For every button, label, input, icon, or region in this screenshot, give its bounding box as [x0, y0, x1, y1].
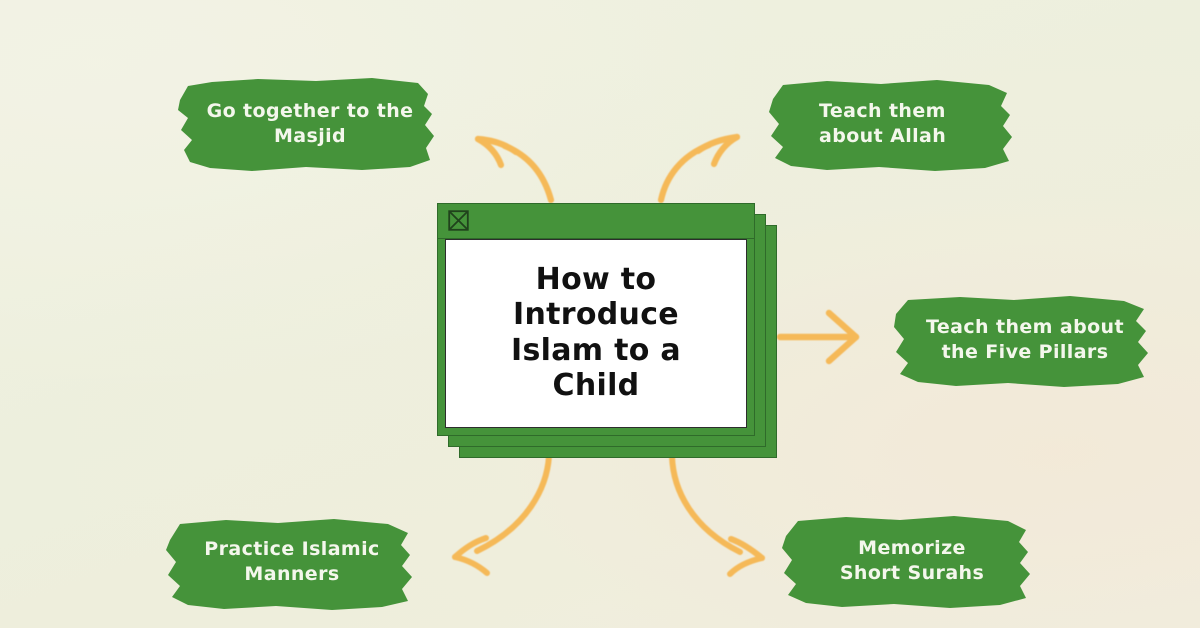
- card-title: How to Introduce Islam to a Child: [501, 262, 691, 402]
- label-go-to-masjid[interactable]: Go together to the Masjid: [166, 70, 446, 178]
- label-text: Teach them about the Five Pillars: [884, 315, 1162, 366]
- infographic-canvas: Go together to the Masjid Teach them abo…: [0, 0, 1200, 628]
- arrow-to-surahs: [672, 456, 762, 574]
- arrow-to-masjid: [478, 139, 551, 200]
- close-box-icon[interactable]: [448, 210, 469, 231]
- center-card-stack[interactable]: How to Introduce Islam to a Child: [437, 203, 755, 436]
- label-practice-islamic-manners[interactable]: Practice Islamic Manners: [156, 512, 426, 612]
- label-text: Practice Islamic Manners: [156, 537, 426, 588]
- label-teach-five-pillars[interactable]: Teach them about the Five Pillars: [884, 290, 1162, 390]
- card-titlebar: [438, 204, 754, 239]
- label-text: Memorize Short Surahs: [772, 536, 1044, 587]
- label-memorize-short-surahs[interactable]: Memorize Short Surahs: [772, 510, 1044, 612]
- arrow-to-pillars: [780, 313, 856, 361]
- card-layer-front[interactable]: How to Introduce Islam to a Child: [437, 203, 755, 436]
- card-body: How to Introduce Islam to a Child: [445, 239, 747, 428]
- label-text: Teach them about Allah: [757, 99, 1025, 150]
- label-teach-about-allah[interactable]: Teach them about Allah: [757, 73, 1025, 175]
- label-text: Go together to the Masjid: [166, 99, 446, 150]
- arrow-to-allah: [661, 137, 737, 200]
- arrow-to-manners: [455, 456, 549, 573]
